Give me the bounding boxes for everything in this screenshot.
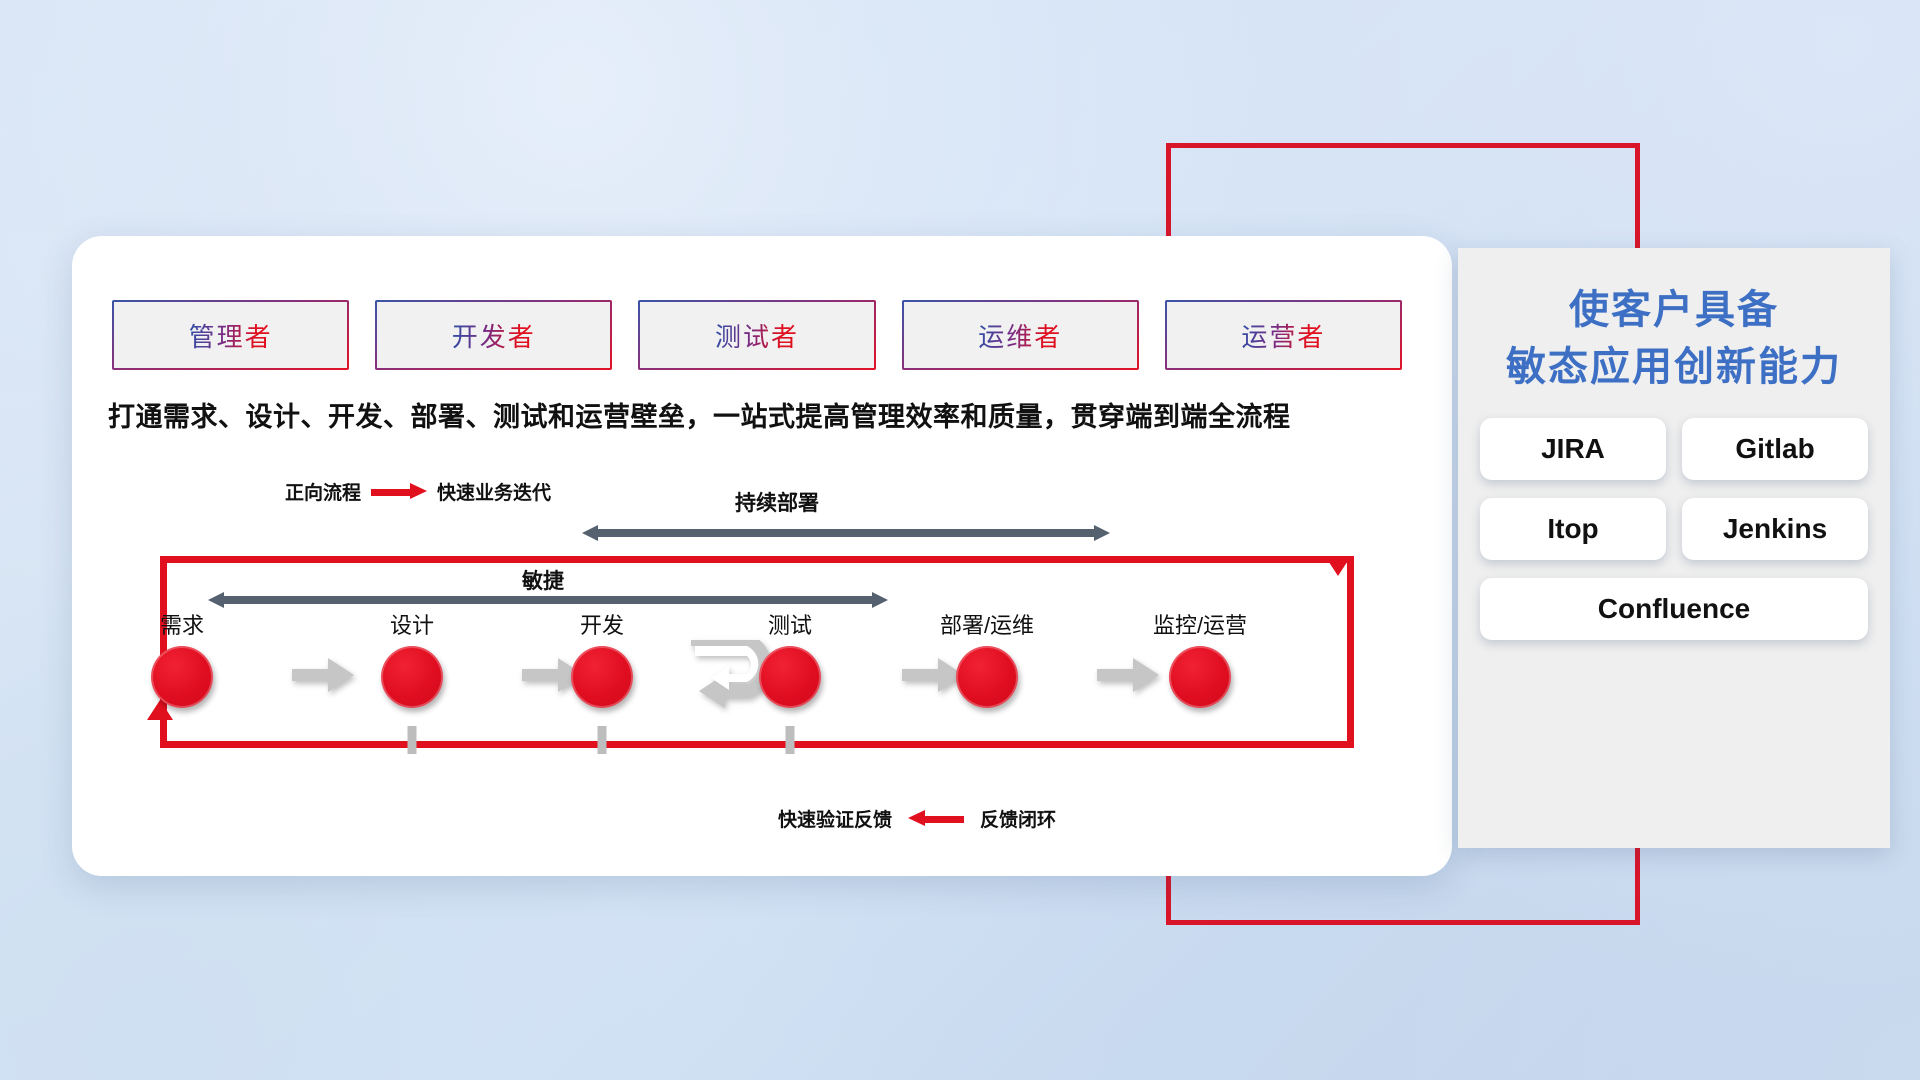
stage-development[interactable]: 开发 bbox=[532, 608, 672, 708]
stage-development-label: 开发 bbox=[532, 608, 672, 640]
stage-development-dot bbox=[571, 646, 633, 708]
loop-arrow-down-icon bbox=[1325, 556, 1351, 576]
stage-deploy-ops-dot bbox=[956, 646, 1018, 708]
headline-text: 打通需求、设计、开发、部署、测试和运营壁垒，一站式提高管理效率和质量，贯穿端到端… bbox=[108, 395, 1418, 434]
stage-monitor-operate[interactable]: 监控/运营 bbox=[1130, 608, 1270, 708]
stage-testing-dot bbox=[759, 646, 821, 708]
stage-testing-stem bbox=[786, 726, 795, 754]
role-tester[interactable]: 测试者 bbox=[638, 300, 875, 370]
role-ops-label: 运维者 bbox=[978, 317, 1062, 354]
stage-deploy-ops-label: 部署/运维 bbox=[917, 608, 1057, 640]
tool-list: JIRA Gitlab Itop Jenkins Confluence bbox=[1458, 404, 1890, 640]
tool-confluence[interactable]: Confluence bbox=[1480, 578, 1868, 640]
feedback-loop-label: 反馈闭环 bbox=[980, 805, 1056, 832]
panel-title: 使客户具备 敏态应用创新能力 bbox=[1458, 248, 1890, 404]
arrow-right-icon bbox=[371, 487, 427, 497]
role-manager-label: 管理者 bbox=[189, 317, 273, 354]
forward-flow-label: 正向流程 bbox=[285, 478, 361, 505]
stage-design-dot bbox=[381, 646, 443, 708]
stage-requirement[interactable]: 需求 bbox=[112, 608, 252, 708]
feedback-legend: 快速验证反馈 反馈闭环 bbox=[778, 805, 1056, 832]
stage-development-stem bbox=[598, 726, 607, 754]
panel-title-line-2: 敏态应用创新能力 bbox=[1468, 339, 1880, 396]
stage-testing[interactable]: 测试 bbox=[720, 608, 860, 708]
role-ops[interactable]: 运维者 bbox=[902, 300, 1139, 370]
stage-requirement-label: 需求 bbox=[112, 608, 252, 640]
tool-jenkins[interactable]: Jenkins bbox=[1682, 498, 1868, 560]
role-box-row: 管理者 开发者 测试者 运维者 运营者 bbox=[112, 300, 1402, 370]
stage-monitor-operate-dot bbox=[1169, 646, 1231, 708]
panel-title-line-1: 使客户具备 bbox=[1468, 282, 1880, 339]
arrow-left-icon bbox=[908, 814, 964, 824]
stage-design-label: 设计 bbox=[342, 608, 482, 640]
tool-jira[interactable]: JIRA bbox=[1480, 418, 1666, 480]
continuous-deployment-arrow-icon bbox=[582, 525, 1110, 541]
fast-verification-label: 快速验证反馈 bbox=[778, 805, 892, 832]
role-developer-label: 开发者 bbox=[452, 317, 536, 354]
stage-deploy-ops[interactable]: 部署/运维 bbox=[917, 608, 1057, 708]
stage-design[interactable]: 设计 bbox=[342, 608, 482, 708]
tool-itop[interactable]: Itop bbox=[1480, 498, 1666, 560]
capability-panel: 使客户具备 敏态应用创新能力 JIRA Gitlab Itop Jenkins … bbox=[1458, 248, 1890, 848]
role-manager[interactable]: 管理者 bbox=[112, 300, 349, 370]
role-operations-label: 运营者 bbox=[1241, 317, 1325, 354]
role-developer[interactable]: 开发者 bbox=[375, 300, 612, 370]
fast-iteration-label: 快速业务迭代 bbox=[437, 478, 551, 505]
forward-flow-legend: 正向流程 快速业务迭代 bbox=[285, 478, 551, 505]
continuous-deployment-label: 持续部署 bbox=[735, 487, 819, 517]
role-operations[interactable]: 运营者 bbox=[1165, 300, 1402, 370]
pipeline: 需求 设计 开发 测试 bbox=[112, 608, 1402, 728]
stage-testing-label: 测试 bbox=[720, 608, 860, 640]
role-tester-label: 测试者 bbox=[715, 317, 799, 354]
stage-requirement-dot bbox=[151, 646, 213, 708]
tool-gitlab[interactable]: Gitlab bbox=[1682, 418, 1868, 480]
stage-monitor-operate-label: 监控/运营 bbox=[1130, 608, 1270, 640]
slide-canvas: 管理者 开发者 测试者 运维者 运营者 打通需求、设计、开发、部署、测试和运营壁… bbox=[0, 0, 1920, 1080]
stage-design-stem bbox=[408, 726, 417, 754]
